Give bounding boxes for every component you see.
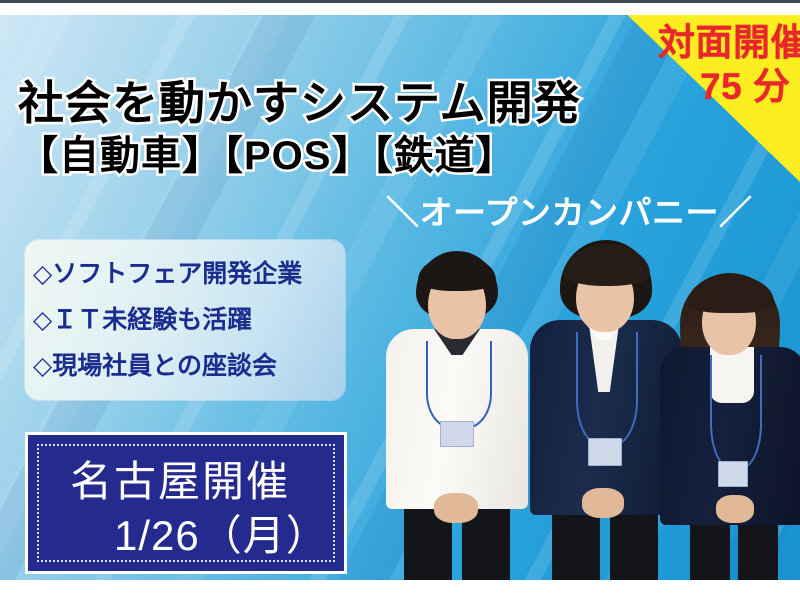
event-date-box: 名古屋開催 1/26（月） [25,432,347,574]
top-white-band [0,3,800,15]
id-badge [718,461,748,487]
headline-line2: 【自動車】【POS】【鉄道】 [18,136,516,176]
clasped-hands [434,493,478,523]
event-location-label: 名古屋開催 [70,461,290,503]
headline-line1: 社会を動かすシステム開発 [18,80,581,126]
corner-banner-line1: 対面開催 [658,24,800,61]
lanyard-cord [426,341,492,429]
feature-bullet-panel: ◇ソフトフェア開発企業 ◇ＩＴ未経験も活躍 ◇現場社員との座談会 [25,240,345,400]
bullet-item-3: ◇現場社員との座談会 [33,343,345,389]
bottom-white-band [0,580,800,600]
id-badge [588,438,622,466]
bullet-item-1-label: ソフトフェア開発企業 [52,260,302,288]
diamond-icon: ◇ [33,306,52,334]
bullet-item-3-label: 現場社員との座談会 [52,352,277,380]
open-campus-label: ＼オープンカンパニー／ [386,196,753,229]
poster-root: 対面開催 75 分 社会を動かすシステム開発 【自動車】【POS】【鉄道】 ＼オ… [0,0,800,600]
person-left-white-shirt [378,245,538,600]
feature-bullet-list: ◇ソフトフェア開発企業 ◇ＩＴ未経験も活躍 ◇現場社員との座談会 [25,240,345,400]
bullet-item-2-label: ＩＴ未経験も活躍 [52,306,252,334]
bullet-item-1: ◇ソフトフェア開発企業 [33,251,345,297]
diamond-icon: ◇ [33,352,52,380]
top-rule-divider [0,0,800,3]
clasped-hands [582,488,624,518]
lanyard-cord [710,355,762,469]
bullet-item-2: ◇ＩＴ未経験も活躍 [33,297,345,343]
id-badge [440,421,474,447]
staff-photo [370,235,800,600]
clasped-hands [716,495,754,523]
event-date-label: 1/26（月） [114,515,329,557]
diamond-icon: ◇ [33,260,52,288]
person-right-navy-suit [658,255,800,600]
hair-fringe [688,275,774,313]
corner-banner-line2: 75 分 [700,68,790,105]
lanyard-cord [576,332,638,446]
